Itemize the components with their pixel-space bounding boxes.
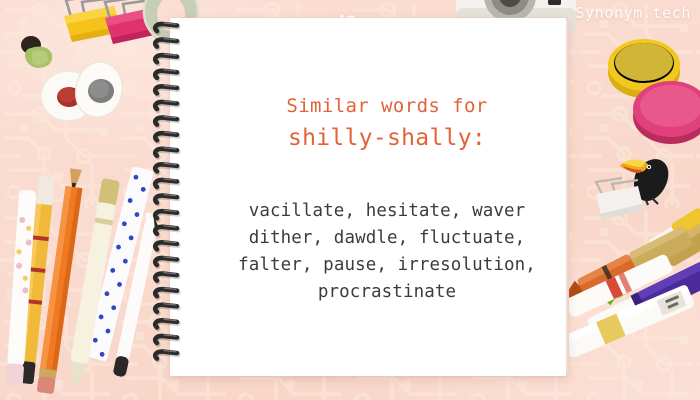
- notebook: Similar words for shilly-shally: vacilla…: [152, 18, 566, 376]
- screenshot-root: Similar words for shilly-shally: vacilla…: [0, 0, 700, 400]
- brand-watermark: Synonym.tech: [575, 4, 691, 22]
- pen-white: [0, 190, 46, 400]
- binder-clip-white: [588, 178, 650, 224]
- headline: Similar words for: [208, 96, 566, 117]
- card-content: Similar words for shilly-shally: vacilla…: [208, 18, 566, 376]
- synonym-line: vacillate, hesitate, waver: [202, 198, 572, 225]
- eraser-avocado: [20, 35, 60, 73]
- synonym-line: procrastinate: [202, 279, 572, 306]
- eraser-egg-yolk: [70, 60, 126, 120]
- macaron-pink: [630, 78, 700, 146]
- synonym-line: dither, dawdle, fluctuate,: [202, 225, 572, 252]
- notebook-page: Similar words for shilly-shally: vacilla…: [170, 18, 566, 376]
- synonym-line: falter, pause, irresolution,: [202, 252, 572, 279]
- synonym-list: vacillate, hesitate, waver dither, dawdl…: [202, 198, 572, 306]
- search-term: shilly-shally:: [208, 124, 566, 153]
- page-edge: [566, 21, 569, 373]
